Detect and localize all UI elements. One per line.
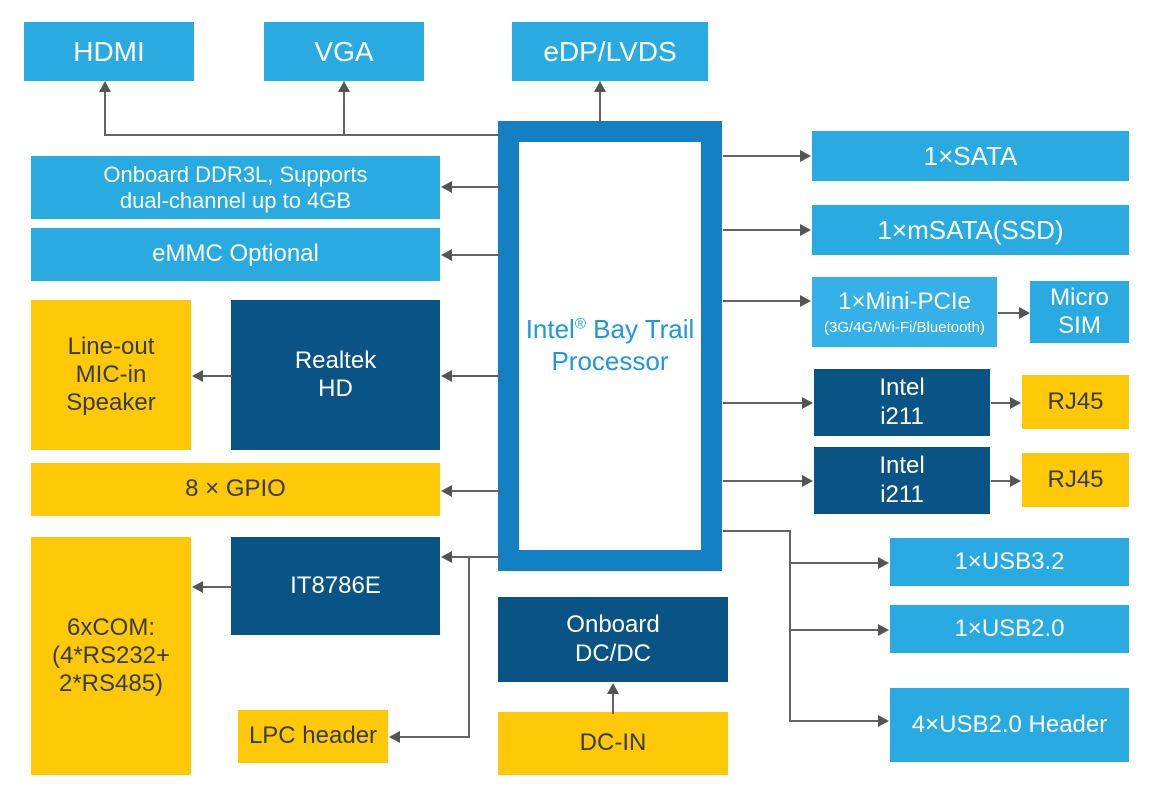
- connector-i211-1-arrow: [802, 397, 813, 409]
- block-usb20-header-label: 4×USB2.0 Header: [912, 711, 1107, 739]
- connector-usb32-arrow: [878, 557, 889, 569]
- block-rj45-1: RJ45: [1022, 375, 1129, 429]
- block-emmc: eMMC Optional: [31, 228, 440, 281]
- block-it8786e-label: IT8786E: [290, 572, 381, 600]
- block-dc-in-label: DC-IN: [580, 729, 647, 757]
- block-audio-jacks: Line-out MIC-in Speaker: [31, 300, 191, 450]
- block-lpc-header-label: LPC header: [249, 722, 377, 750]
- block-hdmi-label: HDMI: [73, 35, 145, 68]
- connector-lpc-line: [400, 736, 470, 738]
- block-intel-i211-2: Intel i211: [814, 447, 990, 514]
- connector-it8786e-line: [452, 556, 500, 558]
- connector-vga-riser: [343, 90, 345, 136]
- block-ddr3l-line1: Onboard DDR3L, Supports: [103, 162, 367, 188]
- block-cpu: Intel® Bay Trail Processor: [519, 142, 701, 550]
- connector-i211-2-line: [723, 480, 803, 482]
- connector-com-line: [203, 586, 232, 588]
- block-micro-sim-line1: Micro: [1050, 284, 1109, 312]
- block-dc-in: DC-IN: [498, 712, 728, 775]
- connector-usb32-line: [789, 562, 879, 564]
- connector-gpio-arrow: [441, 485, 452, 497]
- block-realtek-hd-line2: HD: [318, 375, 353, 403]
- connector-sata-arrow: [800, 150, 811, 162]
- block-msata-label: 1×mSATA(SSD): [877, 215, 1063, 246]
- connector-lpc-drop: [468, 556, 470, 737]
- block-usb20-label: 1×USB2.0: [954, 615, 1064, 643]
- block-mini-pcie: 1×Mini-PCIe (3G/4G/Wi-Fi/Bluetooth): [812, 277, 997, 347]
- block-mini-pcie-line2: (3G/4G/Wi-Fi/Bluetooth): [824, 319, 985, 337]
- connector-dcin-arrow: [607, 683, 619, 694]
- connector-i211-1-line: [723, 402, 803, 404]
- connector-realtek-arrow: [441, 370, 452, 382]
- block-audio-jacks-line3: Speaker: [66, 389, 155, 417]
- block-msata: 1×mSATA(SSD): [812, 205, 1129, 255]
- connector-usb20-line: [789, 629, 879, 631]
- block-com-ports: 6xCOM: (4*RS232+ 2*RS485): [31, 537, 191, 775]
- block-onboard-dcdc-line2: DC/DC: [575, 640, 651, 668]
- block-mini-pcie-line1: 1×Mini-PCIe: [838, 288, 971, 316]
- block-vga: VGA: [264, 22, 424, 81]
- connector-com-arrow: [192, 581, 203, 593]
- cpu-label-line3: Processor: [551, 346, 668, 376]
- block-hdmi: HDMI: [24, 22, 194, 81]
- block-onboard-dcdc: Onboard DC/DC: [498, 597, 728, 682]
- connector-minipcie-line: [723, 300, 801, 302]
- block-com-ports-line1: 6xCOM:: [67, 614, 155, 642]
- connector-i211-2-arrow: [802, 475, 813, 487]
- block-gpio: 8 × GPIO: [31, 463, 440, 516]
- block-audio-jacks-line1: Line-out: [68, 333, 155, 361]
- connector-audio-jacks-arrow: [192, 370, 203, 382]
- connector-lpc-arrow: [389, 731, 400, 743]
- connector-hdmi-riser: [104, 90, 106, 136]
- connector-ddr3l-arrow: [441, 181, 452, 193]
- connector-edp-arrow: [594, 81, 606, 92]
- connector-audio-jacks-line: [203, 375, 232, 377]
- block-emmc-label: eMMC Optional: [152, 240, 319, 268]
- connector-vga-arrow: [338, 81, 350, 92]
- block-com-ports-line2: (4*RS232+: [52, 642, 170, 670]
- cpu-registered-icon: ®: [575, 316, 586, 333]
- block-diagram-canvas: HDMI VGA eDP/LVDS Intel® Bay Trail Proce…: [0, 0, 1160, 796]
- block-lpc-header: LPC header: [238, 710, 388, 763]
- block-rj45-1-label: RJ45: [1047, 388, 1103, 416]
- connector-usb20-header-arrow: [878, 715, 889, 727]
- block-rj45-2: RJ45: [1022, 453, 1129, 507]
- block-it8786e: IT8786E: [231, 537, 440, 635]
- connector-minipcie-arrow: [800, 295, 811, 307]
- block-realtek-hd: Realtek HD: [231, 300, 440, 450]
- connector-it8786e-arrow: [441, 551, 452, 563]
- block-edp-lvds-label: eDP/LVDS: [543, 35, 676, 68]
- connector-rj45-2-line: [991, 480, 1011, 482]
- connector-hdmi-arrow: [99, 81, 111, 92]
- block-intel-i211-2-line2: i211: [880, 481, 924, 509]
- block-com-ports-line3: 2*RS485): [59, 670, 163, 698]
- connector-gpio-line: [452, 490, 500, 492]
- block-micro-sim: Micro SIM: [1030, 281, 1129, 343]
- connector-sata-line: [723, 155, 801, 157]
- block-intel-i211-2-line1: Intel: [879, 452, 924, 480]
- connector-display-bus: [104, 134, 500, 136]
- connector-microsim-line: [998, 312, 1020, 314]
- connector-edp-line: [599, 90, 601, 123]
- block-sata-label: 1×SATA: [924, 141, 1018, 172]
- block-usb32: 1×USB3.2: [890, 538, 1129, 586]
- block-edp-lvds: eDP/LVDS: [512, 22, 708, 81]
- connector-realtek-line: [452, 375, 500, 377]
- block-audio-jacks-line2: MIC-in: [76, 361, 147, 389]
- block-intel-i211-1-line2: i211: [880, 403, 924, 431]
- block-vga-label: VGA: [314, 35, 373, 68]
- block-sata: 1×SATA: [812, 131, 1129, 181]
- connector-rj45-1-arrow: [1010, 397, 1021, 409]
- cpu-label-line2: Bay Trail: [593, 314, 694, 344]
- connector-usb20-arrow: [878, 624, 889, 636]
- connector-microsim-arrow: [1019, 307, 1030, 319]
- connector-rj45-1-line: [991, 402, 1011, 404]
- block-realtek-hd-line1: Realtek: [295, 347, 376, 375]
- connector-dcin-line: [612, 692, 614, 714]
- connector-emmc-arrow: [441, 249, 452, 261]
- block-intel-i211-1-line1: Intel: [879, 374, 924, 402]
- connector-msata-arrow: [800, 224, 811, 236]
- block-micro-sim-line2: SIM: [1058, 312, 1101, 340]
- connector-usb20-header-line: [789, 720, 879, 722]
- connector-usb-spine: [789, 530, 791, 722]
- block-usb20: 1×USB2.0: [890, 605, 1129, 653]
- block-ddr3l-line2: dual-channel up to 4GB: [120, 188, 351, 214]
- block-usb20-header: 4×USB2.0 Header: [890, 688, 1129, 762]
- block-ddr3l: Onboard DDR3L, Supports dual-channel up …: [31, 156, 440, 219]
- connector-usb-bus: [723, 530, 791, 532]
- block-gpio-label: 8 × GPIO: [185, 475, 286, 503]
- block-intel-i211-1: Intel i211: [814, 369, 990, 436]
- connector-rj45-2-arrow: [1010, 475, 1021, 487]
- block-usb32-label: 1×USB3.2: [954, 548, 1064, 576]
- connector-emmc-line: [452, 254, 500, 256]
- block-rj45-2-label: RJ45: [1047, 466, 1103, 494]
- connector-msata-line: [723, 229, 801, 231]
- connector-ddr3l-line: [452, 186, 500, 188]
- block-onboard-dcdc-line1: Onboard: [566, 611, 659, 639]
- cpu-label-line1: Intel®: [526, 314, 586, 344]
